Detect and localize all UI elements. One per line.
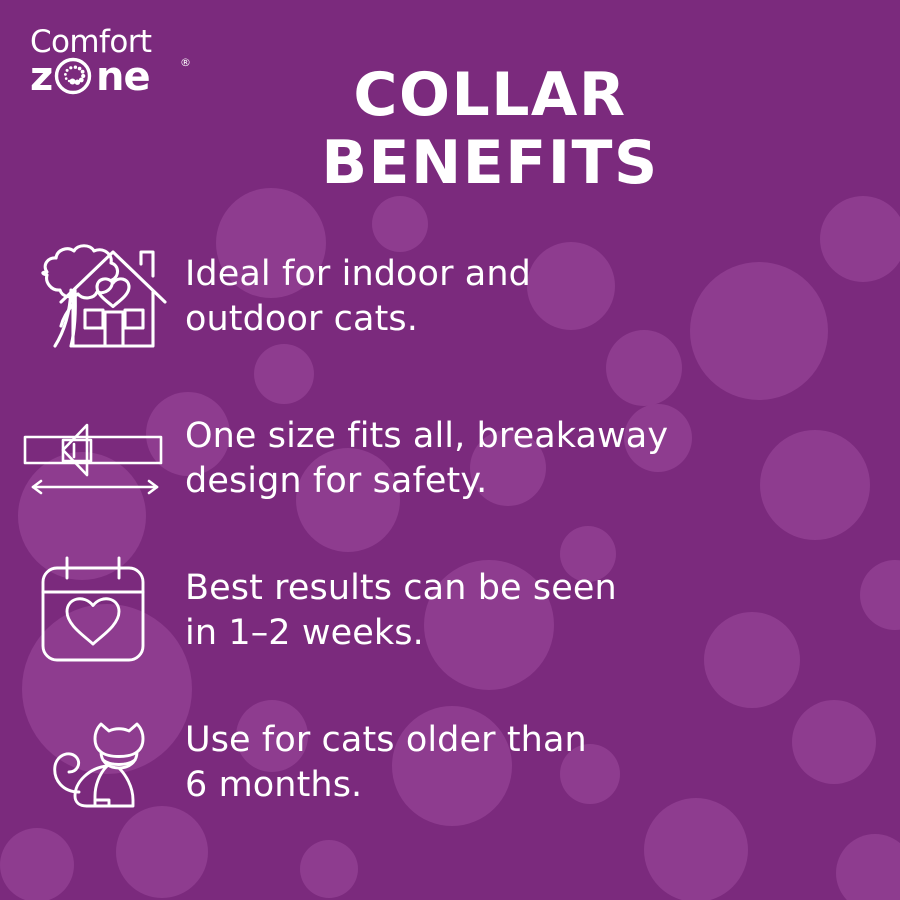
benefit-row: One size fits all, breakaway design for … <box>0 392 900 544</box>
benefit-row: Best results can be seen in 1–2 weeks. <box>0 544 900 696</box>
benefit-text-line-2: design for safety. <box>185 459 880 504</box>
benefit-text-line-2: outdoor cats. <box>185 297 880 342</box>
benefit-text-line-1: Use for cats older than <box>185 718 880 763</box>
benefit-text-line-1: Best results can be seen <box>185 566 880 611</box>
benefit-text-line-1: One size fits all, breakaway <box>185 414 880 459</box>
page-title: COLLAR BENEFITS <box>210 62 770 198</box>
sitting-cat-with-collar-icon <box>0 696 185 826</box>
collar-benefits-graphic: Comfort z ne ® COLLAR <box>0 0 900 900</box>
benefit-text: Use for cats older than 6 months. <box>185 696 900 808</box>
headline-line-2: BENEFITS <box>210 130 770 198</box>
benefit-row: Ideal for indoor and outdoor cats. <box>0 232 900 392</box>
logo-zone-ne-text: ne <box>96 54 150 100</box>
benefit-text-line-1: Ideal for indoor and <box>185 252 880 297</box>
benefit-text: Best results can be seen in 1–2 weeks. <box>185 544 900 656</box>
comfort-zone-logo: Comfort z ne ® <box>30 22 195 102</box>
house-with-tree-and-heart-icon <box>0 232 185 362</box>
calendar-with-heart-icon <box>0 544 185 674</box>
benefit-text: Ideal for indoor and outdoor cats. <box>185 232 900 342</box>
benefit-row: Use for cats older than 6 months. <box>0 696 900 848</box>
benefit-text-line-2: in 1–2 weeks. <box>185 611 880 656</box>
logo-registered-mark: ® <box>180 56 191 69</box>
benefits-list: Ideal for indoor and outdoor cats. <box>0 232 900 848</box>
collar-with-buckle-and-arrow-icon <box>0 392 185 522</box>
logo-zone-z-text: z <box>30 54 53 100</box>
swirl-burst-icon <box>57 60 90 93</box>
benefit-text: One size fits all, breakaway design for … <box>185 392 900 504</box>
benefit-text-line-2: 6 months. <box>185 763 880 808</box>
headline-line-1: COLLAR <box>210 62 770 130</box>
bubble <box>300 840 358 898</box>
